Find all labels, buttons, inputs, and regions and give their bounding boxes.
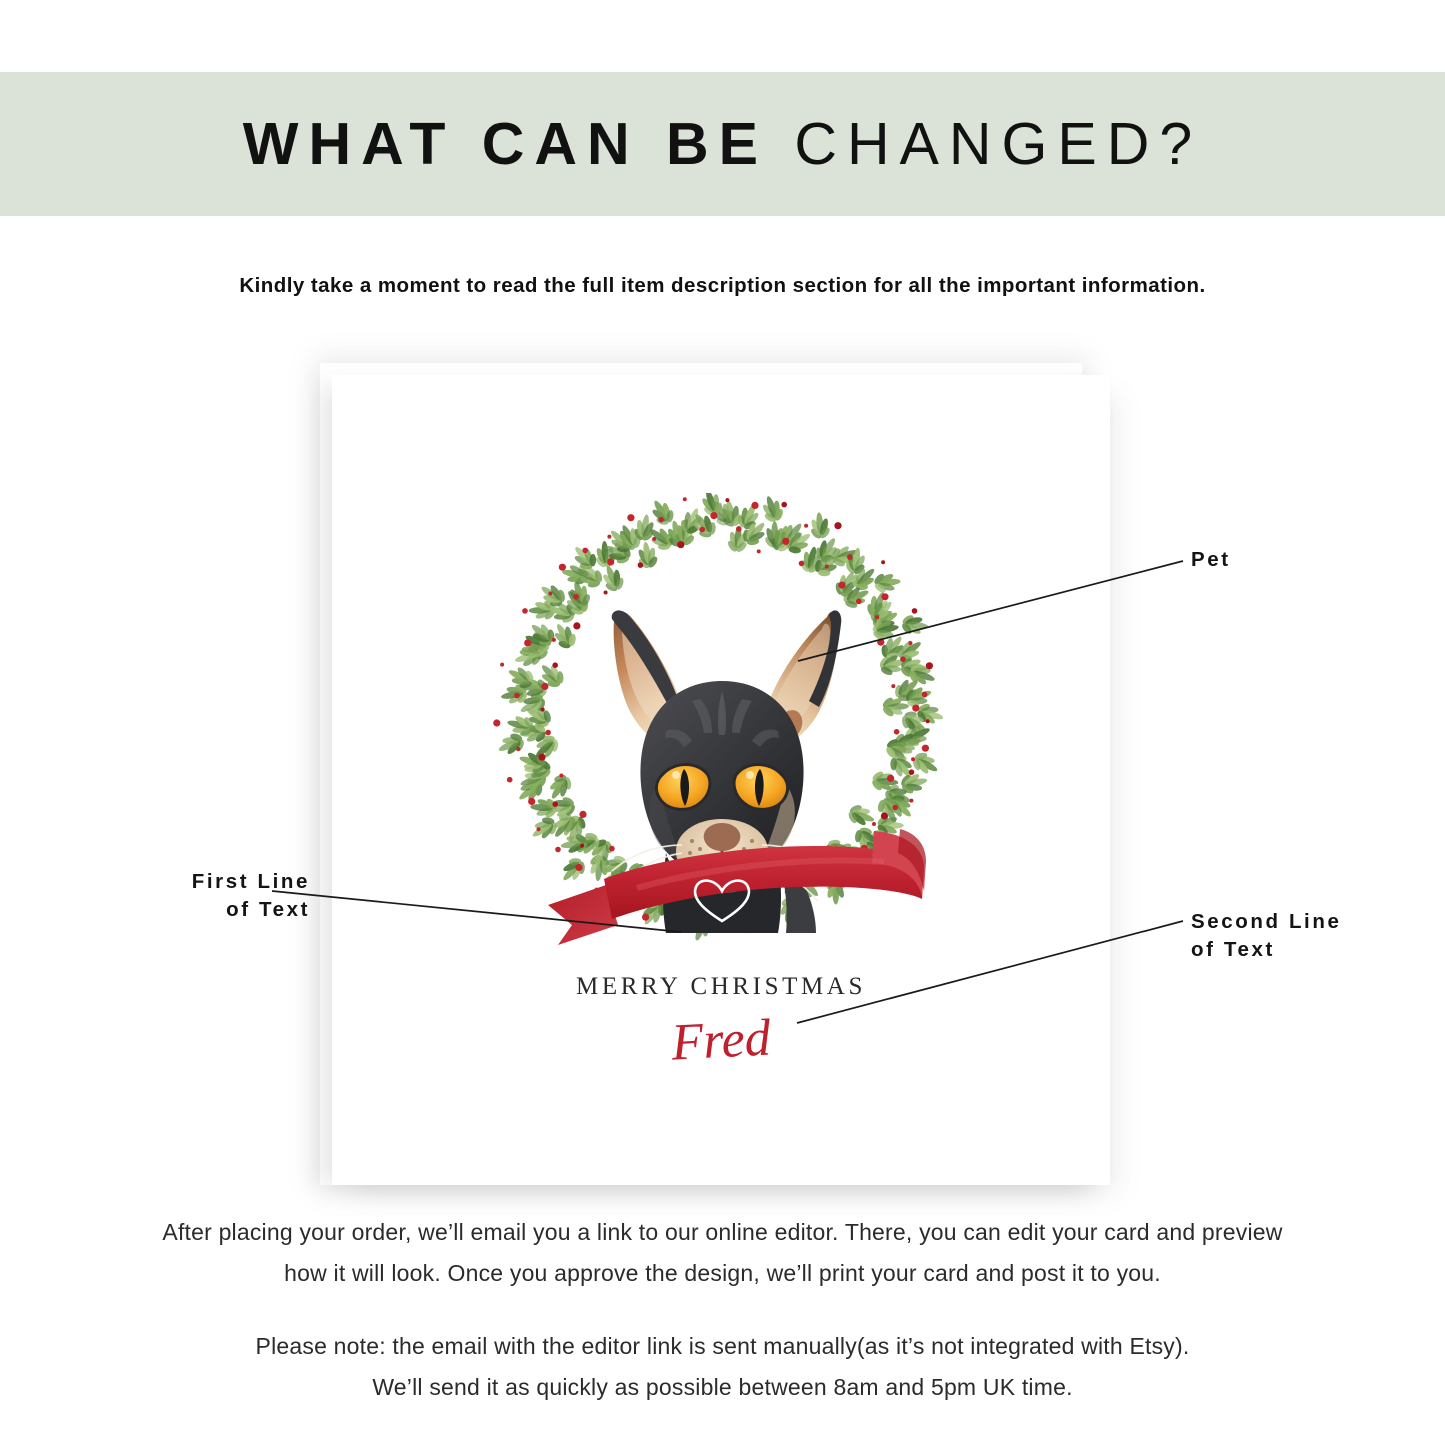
footer-paragraph-1: After placing your order, we’ll email yo… <box>0 1212 1445 1294</box>
greeting-card-front: MERRY CHRISTMAS Fred <box>332 375 1110 1185</box>
card-illustration <box>486 493 956 963</box>
footer-paragraph-2: Please note: the email with the editor l… <box>0 1326 1445 1408</box>
annotation-second-line-2: of Text <box>1191 936 1341 964</box>
annotation-pet-text: Pet <box>1191 546 1231 574</box>
footer-p2-line1: Please note: the email with the editor l… <box>0 1326 1445 1367</box>
annotation-first-line-2: of Text <box>60 896 310 924</box>
card-text-line-2: Fred <box>331 991 1111 1091</box>
card-mockup-stack: MERRY CHRISTMAS Fred <box>300 345 1100 1195</box>
page-title-strong: WHAT CAN BE <box>243 111 768 177</box>
footer-p1-line1: After placing your order, we’ll email yo… <box>0 1212 1445 1253</box>
annotation-label-first-line: First Line of Text <box>60 868 310 923</box>
footer-p2-line2: We’ll send it as quickly as possible bet… <box>0 1367 1445 1408</box>
annotation-label-pet: Pet <box>1191 546 1231 574</box>
wreath-cat-ribbon-svg <box>486 493 956 963</box>
cat-eye-right <box>734 765 788 810</box>
annotation-second-line-1: Second Line <box>1191 908 1341 936</box>
footer-p1-line2: how it will look. Once you approve the d… <box>0 1253 1445 1294</box>
page-title: WHAT CAN BE CHANGED? <box>243 115 1202 174</box>
annotation-first-line-1: First Line <box>60 868 310 896</box>
page-title-light: CHANGED? <box>794 111 1202 177</box>
annotation-label-second-line: Second Line of Text <box>1191 908 1341 963</box>
subtitle-instruction: Kindly take a moment to read the full it… <box>0 274 1445 298</box>
cat-eye-left <box>656 765 710 810</box>
header-band: WHAT CAN BE CHANGED? <box>0 72 1445 216</box>
